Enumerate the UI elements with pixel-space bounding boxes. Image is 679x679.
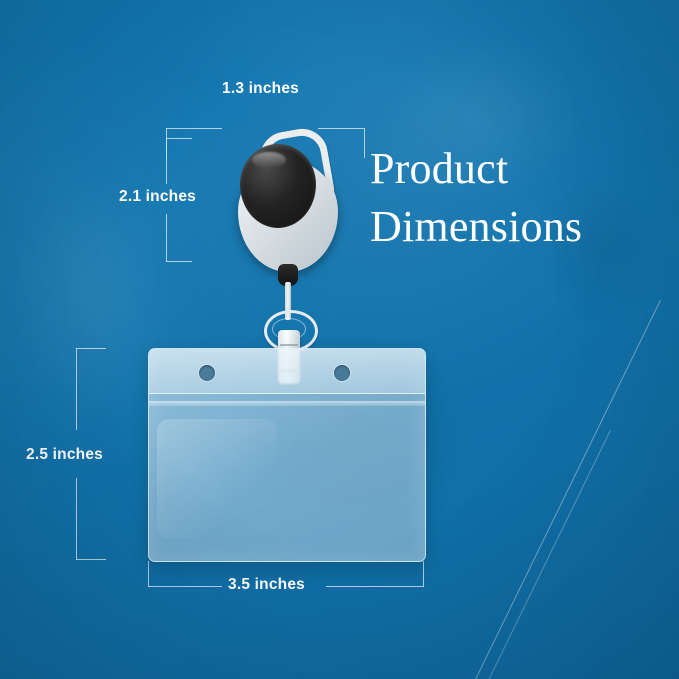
light-streak-1 (472, 300, 662, 679)
dimension-label-card-height: 2.5 inches (26, 446, 103, 464)
bracket-clipheight-edge-bottom (166, 214, 167, 262)
retractable-badge-reel (228, 130, 348, 370)
bracket-cardwidth-right-tick (423, 561, 424, 587)
holder-sheen (157, 419, 277, 539)
dimension-label-clip-width: 1.3 inches (222, 80, 299, 98)
bracket-cardheight-bottom (76, 559, 106, 560)
bracket-clipheight-edge-top (166, 138, 167, 184)
bracket-cardwidth-span-right (326, 586, 424, 587)
light-streak-2 (465, 430, 611, 679)
dimension-label-card-width: 3.5 inches (228, 576, 305, 594)
reel-gloss (252, 152, 286, 168)
bracket-top-span-left (166, 128, 222, 129)
bracket-cardheight-top (76, 348, 106, 349)
title-line-2: Dimensions (370, 198, 670, 256)
dimension-label-clip-height: 2.1 inches (119, 188, 196, 206)
bracket-clipheight-top (166, 138, 192, 139)
bracket-cardheight-edge-bottom (76, 478, 77, 560)
title-line-1: Product (370, 144, 508, 193)
holder-hole-right (334, 365, 350, 381)
holder-seam (149, 401, 425, 406)
product-dimensions-image: Product Dimensions 1.3 inches 2.1 inches… (0, 0, 679, 679)
clip-seam-1 (280, 344, 298, 346)
bracket-cardheight-edge-top (76, 348, 77, 430)
holder-top-strip (149, 349, 425, 394)
holder-hole-left (199, 365, 215, 381)
bracket-top-right-tick (364, 128, 365, 158)
bracket-clipheight-bottom (166, 261, 192, 262)
bracket-cardwidth-span-left (148, 586, 222, 587)
bracket-cardwidth-left-tick (148, 561, 149, 587)
bracket-top-span-right (318, 128, 364, 129)
page-title: Product Dimensions (370, 140, 670, 256)
horizontal-id-card-holder (148, 348, 426, 562)
